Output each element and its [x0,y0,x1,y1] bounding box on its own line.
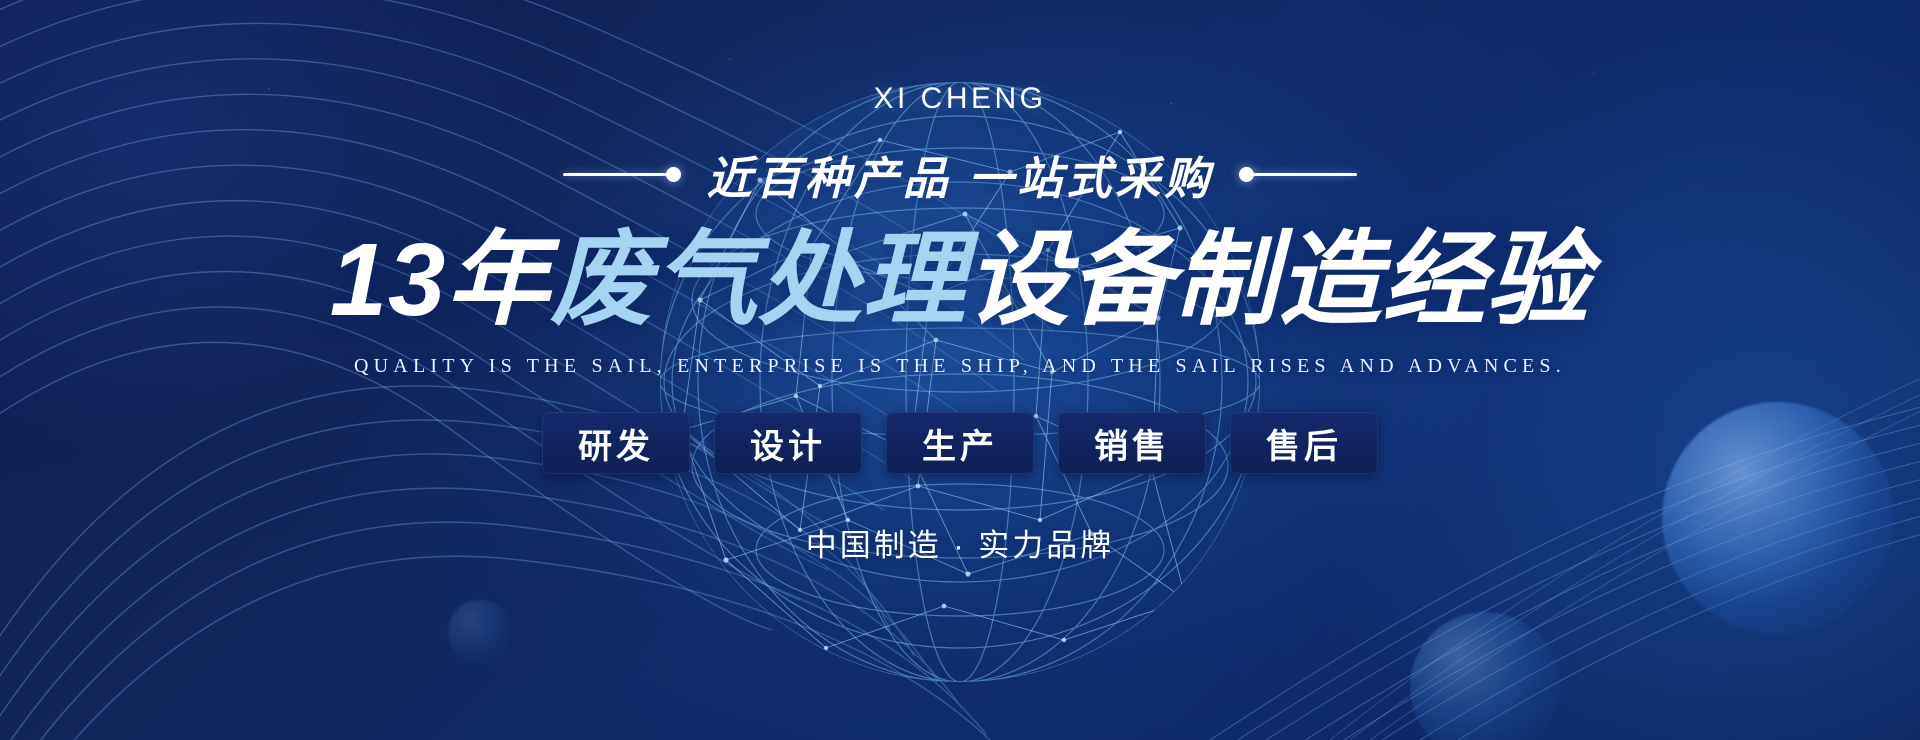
hero-banner: XI CHENG 近百种产品 一站式采购 13年废气处理设备制造经验 QUALI… [0,0,1920,740]
banner-footer-slogan: 中国制造 · 实力品牌 [806,520,1115,565]
divider-dot-right [1239,167,1254,182]
service-pill-label: 设计 [750,419,826,468]
headline-years: 13年 [330,222,551,337]
service-pill-list: 研发 设计 生产 销售 售后 [542,412,1378,474]
service-pill-sales[interactable]: 销售 [1058,412,1206,474]
banner-english-tagline: QUALITY IS THE SAIL, ENTERPRISE IS THE S… [354,355,1566,378]
headline-highlight: 废气处理 [550,222,966,337]
divider-right-decoration [1239,167,1357,182]
service-pill-label: 销售 [1094,419,1170,468]
service-pill-label: 研发 [578,419,654,468]
divider-bar-left [563,173,667,176]
subtitle-row: 近百种产品 一站式采购 [563,142,1358,207]
headline-tail: 设备制造经验 [966,222,1590,337]
divider-bar-right [1253,173,1357,176]
banner-content: XI CHENG 近百种产品 一站式采购 13年废气处理设备制造经验 QUALI… [0,0,1920,740]
banner-subtitle: 近百种产品 一站式采购 [707,142,1214,207]
brand-latin-name: XI CHENG [873,84,1046,114]
banner-headline: 13年废气处理设备制造经验 [330,221,1591,339]
service-pill-production[interactable]: 生产 [886,412,1034,474]
service-pill-label: 生产 [922,419,998,468]
service-pill-design[interactable]: 设计 [714,412,862,474]
service-pill-label: 售后 [1266,419,1342,468]
service-pill-aftersales[interactable]: 售后 [1230,412,1378,474]
divider-dot-left [666,167,681,182]
service-pill-rd[interactable]: 研发 [542,412,690,474]
divider-left-decoration [563,167,681,182]
